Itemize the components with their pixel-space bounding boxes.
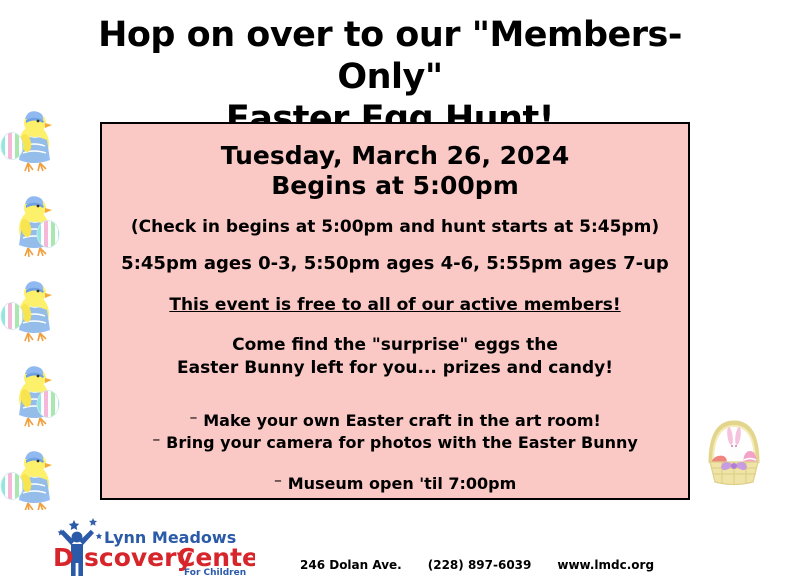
event-start-time: Begins at 5:00pm [102,171,688,201]
footer-website[interactable]: www.lmdc.org [557,558,654,572]
footer-phone: (228) 897-6039 [428,558,532,572]
easter-basket-icon [698,415,770,487]
chick-egg-decoration-strip [0,110,70,510]
lynn-meadows-discovery-center-logo: Lynn Meadows D scovery Center For Childr… [40,515,255,577]
easter-flyer: Hop on over to our "Members-Only" Easter… [0,0,787,587]
bullet-craft: ⁻ Make your own Easter craft in the art … [102,410,688,432]
title-line-1: Hop on over to our "Members-Only" [98,15,682,97]
contact-footer: 246 Dolan Ave. (228) 897-6039 www.lmdc.o… [300,558,700,572]
event-date: Tuesday, March 26, 2024 [102,141,688,171]
event-date-block: Tuesday, March 26, 2024 Begins at 5:00pm [102,141,688,201]
logo-tagline: For Children [184,568,246,577]
event-details-panel: Tuesday, March 26, 2024 Begins at 5:00pm… [100,122,690,500]
free-members-note: This event is free to all of our active … [102,295,688,315]
activity-bullets: ⁻ Make your own Easter craft in the art … [102,410,688,454]
footer-address: 246 Dolan Ave. [300,558,402,572]
logo-discovery-d: D [53,543,74,572]
surprise-eggs-line-1: Come find the "surprise" eggs the [102,334,688,357]
bullet-camera: ⁻ Bring your camera for photos with the … [102,432,688,454]
age-schedule: 5:45pm ages 0-3, 5:50pm ages 4-6, 5:55pm… [102,253,688,275]
surprise-eggs-block: Come find the "surprise" eggs the Easter… [102,334,688,380]
checkin-note: (Check in begins at 5:00pm and hunt star… [102,217,688,237]
surprise-eggs-line-2: Easter Bunny left for you... prizes and … [102,357,688,380]
bullet-museum-hours: ⁻ Museum open 'til 7:00pm [102,474,688,494]
